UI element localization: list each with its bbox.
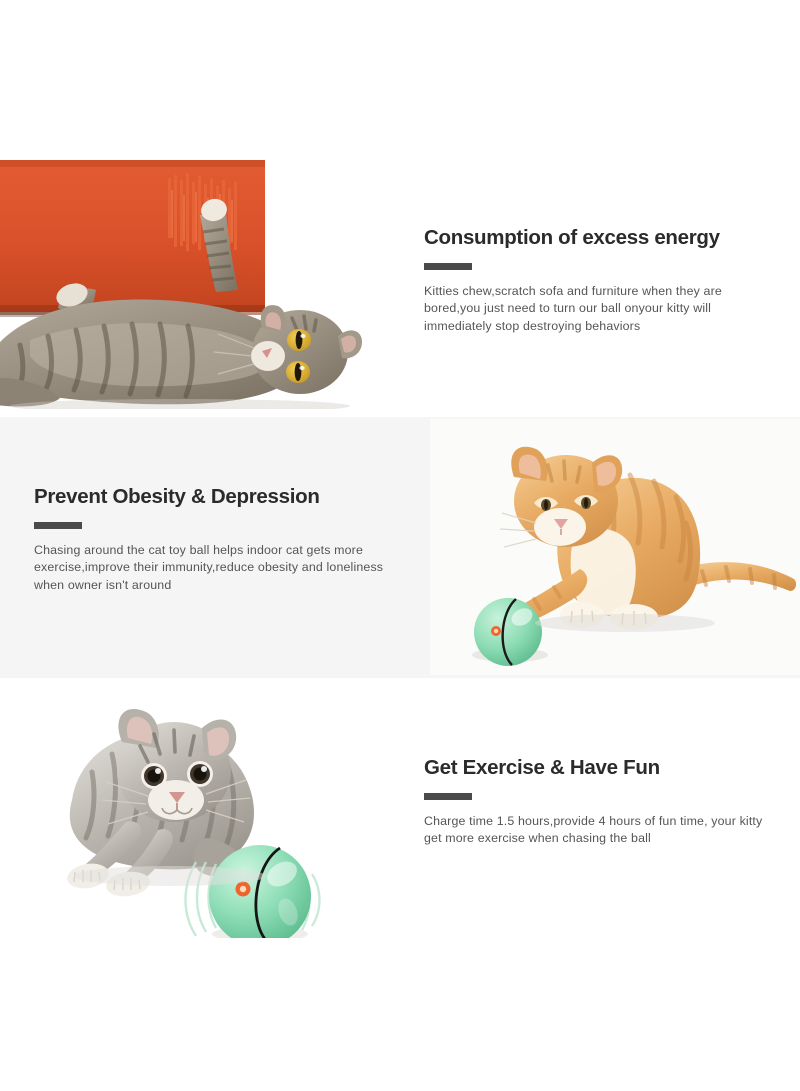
section-headline: Consumption of excess energy: [424, 226, 776, 250]
feature-section-get-exercise-and-have-fun: Get Exercise & Have Fun Charge time 1.5 …: [0, 680, 800, 940]
photo-silver-tabby-kitten-with-mint-green-toy-ball: [30, 680, 390, 938]
section-headline: Prevent Obesity & Depression: [34, 485, 396, 509]
photo-orange-tabby-cat-pawing-mint-green-toy-ball: [430, 419, 800, 675]
accent-divider-bar: [34, 522, 82, 529]
section-body-text: Charge time 1.5 hours,provide 4 hours of…: [424, 813, 776, 848]
accent-divider-bar: [424, 263, 472, 270]
feature-section-prevent-obesity-and-depression: Prevent Obesity & Depression Chasing aro…: [0, 417, 800, 678]
text-block-prevent-obesity-and-depression: Prevent Obesity & Depression Chasing aro…: [34, 485, 396, 594]
feature-section-consumption-of-excess-energy: Consumption of excess energy Kitties che…: [0, 140, 800, 409]
text-block-consumption-of-excess-energy: Consumption of excess energy Kitties che…: [424, 226, 776, 335]
section-body-text: Kitties chew,scratch sofa and furniture …: [424, 283, 776, 336]
product-feature-page: Consumption of excess energy Kitties che…: [0, 0, 800, 1091]
accent-divider-bar: [424, 793, 472, 800]
text-block-get-exercise-and-have-fun: Get Exercise & Have Fun Charge time 1.5 …: [424, 756, 776, 848]
photo-tabby-cat-lying-on-back-beside-orange-sofa: [0, 140, 385, 409]
section-headline: Get Exercise & Have Fun: [424, 756, 776, 780]
section-body-text: Chasing around the cat toy ball helps in…: [34, 542, 396, 595]
